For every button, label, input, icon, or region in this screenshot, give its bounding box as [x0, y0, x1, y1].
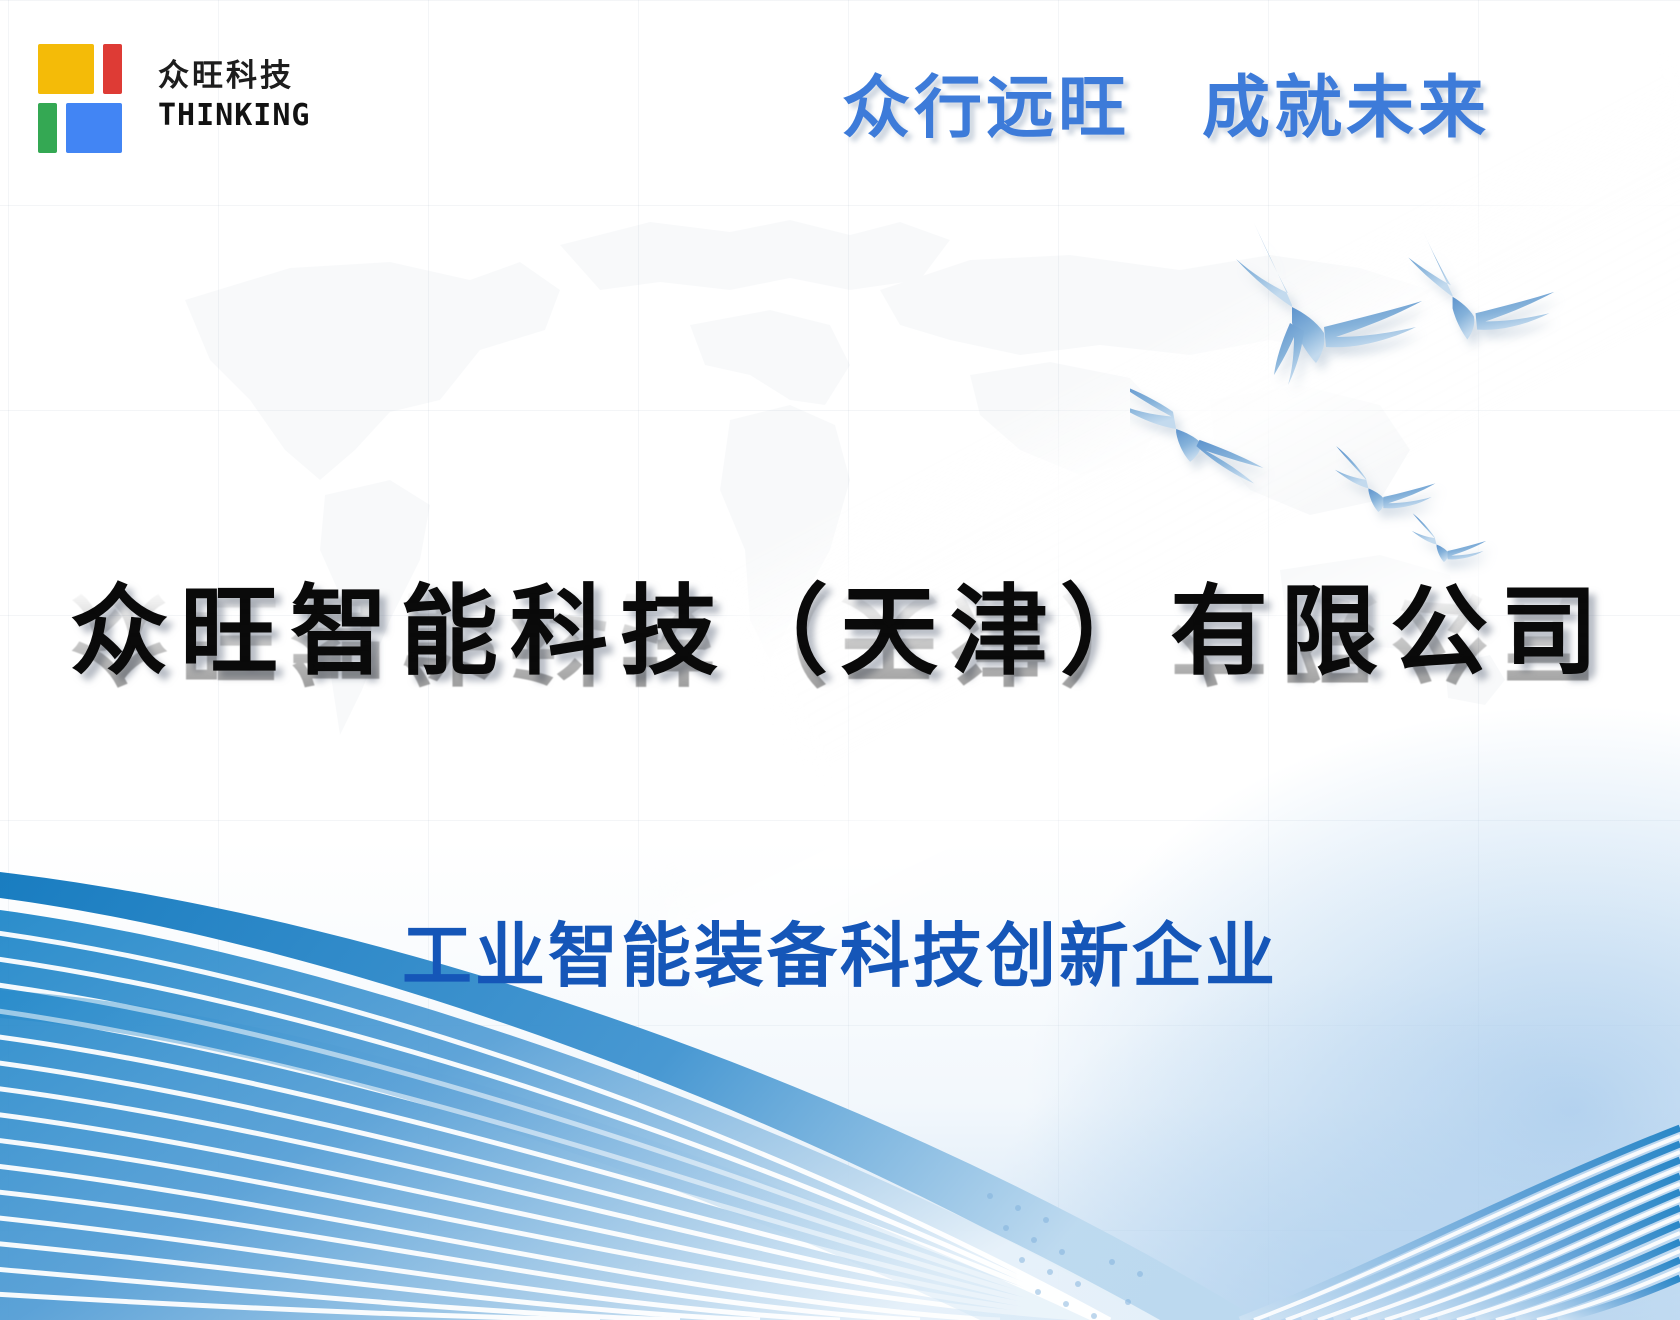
- presentation-slide: 众旺科技 THINKING 众行远旺 成就未来 众旺智能科技（天津）有限公司 众…: [0, 0, 1680, 1320]
- company-logo: 众旺科技 THINKING: [30, 36, 311, 154]
- seagull-icon-small: [1335, 446, 1435, 512]
- page-title-reflection: 众旺智能科技（天津）有限公司: [0, 580, 1680, 690]
- seagull-icon-right: [1408, 231, 1554, 339]
- logo-block-red: [103, 44, 122, 94]
- seagull-icon-large: [1236, 223, 1422, 385]
- title-block: 众旺智能科技（天津）有限公司 众旺智能科技（天津）有限公司: [0, 578, 1680, 800]
- logo-wordmark: 众旺科技 THINKING: [158, 59, 311, 131]
- logo-english-name: THINKING: [158, 101, 311, 131]
- seagull-group: [1130, 195, 1650, 615]
- logo-block-yellow: [38, 44, 94, 94]
- seagull-icon-mid: [1130, 384, 1263, 484]
- page-subtitle: 工业智能装备科技创新企业: [0, 900, 1680, 1001]
- header-tagline: 众行远旺 成就未来: [842, 52, 1490, 151]
- logo-color-blocks: [30, 36, 130, 154]
- logo-chinese-name: 众旺科技: [158, 59, 311, 93]
- logo-block-blue: [66, 103, 122, 153]
- logo-block-green: [38, 103, 57, 153]
- seagull-icon-tiny: [1412, 513, 1487, 562]
- corner-stripe-decoration: [1120, 1020, 1680, 1320]
